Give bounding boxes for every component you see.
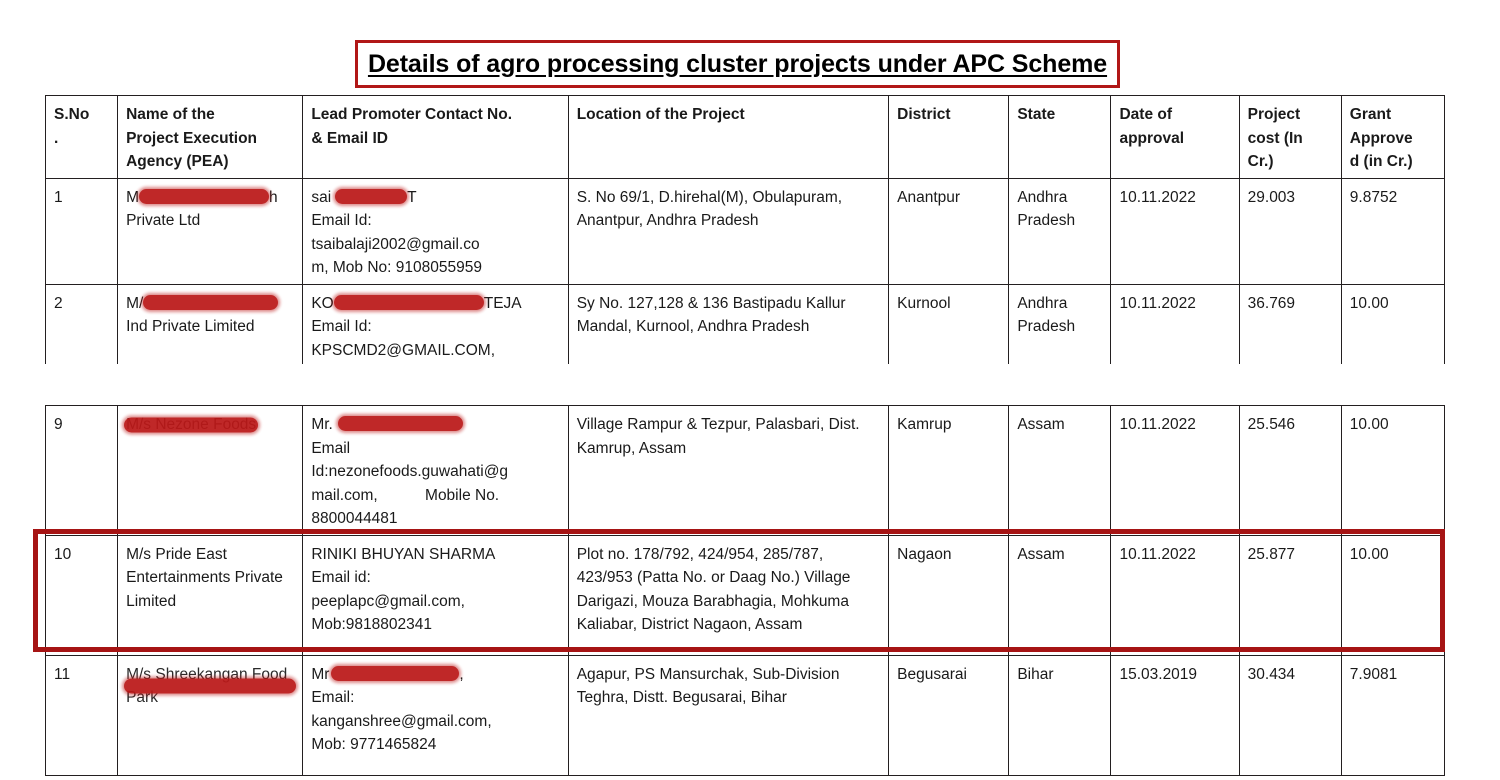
header-line: S.No [54,103,109,127]
lead-line: KPSCMD2@GMAIL.COM, [311,339,559,363]
cell-grant-approved: 10.00 [1341,406,1444,536]
redacted-agency-name: M/s Shreekangan Food Park [126,663,294,710]
cell-location: S. No 69/1, D.hirehal(M), Obulapuram, An… [568,178,888,284]
redacted-agency-name: M/ [126,292,294,316]
redacted-promoter-name: saiT [311,186,559,210]
redacted-promoter-name: KOTEJA [311,292,559,316]
column-header-pea: Name of the Project Execution Agency (PE… [118,96,303,179]
promoter-visible-prefix: Mr [311,666,329,683]
cell-project-cost: 25.877 [1239,535,1341,655]
header-line: State [1017,103,1102,127]
pea-visible-prefix: M/ [126,295,143,312]
cell-lead-promoter: saiT Email Id: tsaibalaji2002@gmail.co m… [303,178,568,284]
header-line: Lead Promoter Contact No. [311,103,559,127]
redacted-promoter-name: Mr. [311,413,559,437]
column-header-grant-approved: Grant Approve d (in Cr.) [1341,96,1444,179]
cell-state: Bihar [1009,655,1111,775]
redacted-agency-name: Mh [126,186,294,210]
cell-project-cost: 30.434 [1239,655,1341,775]
lead-line: mail.com, Mobile No. [311,484,559,508]
column-header-date-of-approval: Date of approval [1111,96,1239,179]
lead-line: Id:nezonefoods.guwahati@g [311,460,559,484]
cell-sno: 9 [46,406,118,536]
table-row-highlighted: 10 M/s Pride East Entertainments Private… [46,535,1445,655]
redaction-mark [334,295,484,310]
header-line: Date of [1119,103,1230,127]
cell-district: Nagaon [889,535,1009,655]
cell-pea: M/s Pride East Entertainments Private Li… [118,535,303,655]
column-header-project-cost: Project cost (In Cr.) [1239,96,1341,179]
cell-location: Agapur, PS Mansurchak, Sub-Division Tegh… [568,655,888,775]
page-break-gap [0,364,1500,406]
redacted-agency-name: M/s Nezone Foods [126,413,256,437]
cell-date: 10.11.2022 [1111,178,1239,284]
cell-district: Anantpur [889,178,1009,284]
header-line: . [54,127,109,151]
promoter-visible-suffix: TEJA [484,295,522,312]
header-line: Location of the Project [577,103,880,127]
redaction-mark [331,666,459,681]
redaction-mark [338,416,463,431]
promoter-name: RINIKI BHUYAN SHARMA [311,543,559,567]
lead-line: Mob:9818802341 [311,613,559,637]
promoter-visible-suffix: , [459,666,463,683]
header-line: Agency (PEA) [126,150,294,174]
header-line: Project [1248,103,1333,127]
column-header-district: District [889,96,1009,179]
header-line: & Email ID [311,127,559,151]
cell-state: Assam [1009,535,1111,655]
lead-line: Email Id: [311,209,559,233]
cell-state: Andhra Pradesh [1009,178,1111,284]
column-header-state: State [1009,96,1111,179]
lead-line: kanganshree@gmail.com, [311,710,559,734]
header-line: d (in Cr.) [1350,150,1436,174]
column-header-lead-promoter: Lead Promoter Contact No. & Email ID [303,96,568,179]
table-header-row: S.No . Name of the Project Execution Age… [46,96,1445,179]
lead-line: peeplapc@gmail.com, [311,590,559,614]
cell-date: 10.11.2022 [1111,535,1239,655]
header-line: cost (In [1248,127,1333,151]
header-line: Name of the [126,103,294,127]
cell-sno: 11 [46,655,118,775]
cell-district: Begusarai [889,655,1009,775]
table-row: 9 M/s Nezone Foods Mr. Email Id:nezonefo… [46,406,1445,536]
promoter-visible-prefix: sai [311,189,331,206]
cell-date: 15.03.2019 [1111,655,1239,775]
lead-line: tsaibalaji2002@gmail.co [311,233,559,257]
cell-project-cost: 29.003 [1239,178,1341,284]
lead-line: 8800044481 [311,507,559,531]
header-line: Cr.) [1248,150,1333,174]
projects-table-part-1: S.No . Name of the Project Execution Age… [45,95,1445,391]
header-line: Approve [1350,127,1436,151]
header-line: approval [1119,127,1230,151]
table-row: 1 Mh Private Ltd saiT Email Id: tsaibala… [46,178,1445,284]
page-title: Details of agro processing cluster proje… [368,50,1107,79]
cell-grant-approved: 7.9081 [1341,655,1444,775]
cell-lead-promoter: RINIKI BHUYAN SHARMA Email id: peeplapc@… [303,535,568,655]
lead-line: Email: [311,686,559,710]
cell-grant-approved: 9.8752 [1341,178,1444,284]
promoter-visible-prefix: KO [311,295,333,312]
column-header-location: Location of the Project [568,96,888,179]
cell-grant-approved: 10.00 [1341,535,1444,655]
lead-line: Email [311,437,559,461]
cell-project-cost: 25.546 [1239,406,1341,536]
pea-visible-suffix: h [269,189,278,206]
cell-lead-promoter: Mr, Email: kanganshree@gmail.com, Mob: 9… [303,655,568,775]
cell-pea: M/s Nezone Foods [118,406,303,536]
redaction-mark [335,189,407,204]
pea-line-2: Ind Private Limited [126,315,294,339]
header-line: Project Execution [126,127,294,151]
header-line: Grant [1350,103,1436,127]
promoter-visible-suffix: T [407,189,416,206]
lead-line: Email Id: [311,315,559,339]
cell-date: 10.11.2022 [1111,406,1239,536]
cell-pea: Mh Private Ltd [118,178,303,284]
cell-pea: M/s Shreekangan Food Park [118,655,303,775]
table-row: 11 M/s Shreekangan Food Park Mr, Email: … [46,655,1445,775]
lead-line: Email id: [311,566,559,590]
pea-line-2: Private Ltd [126,209,294,233]
redacted-promoter-name: Mr, [311,663,559,687]
cell-district: Kamrup [889,406,1009,536]
cell-lead-promoter: Mr. Email Id:nezonefoods.guwahati@g mail… [303,406,568,536]
lead-line: m, Mob No: 9108055959 [311,256,559,280]
lead-line: Mob: 9771465824 [311,733,559,757]
redaction-mark [139,189,269,204]
cell-state: Assam [1009,406,1111,536]
cell-sno: 1 [46,178,118,284]
header-line: District [897,103,1000,127]
column-header-sno: S.No . [46,96,118,179]
cell-sno: 10 [46,535,118,655]
cell-location: Plot no. 178/792, 424/954, 285/787, 423/… [568,535,888,655]
cell-location: Village Rampur & Tezpur, Palasbari, Dist… [568,406,888,536]
redaction-mark [143,295,278,310]
projects-table-part-2: 9 M/s Nezone Foods Mr. Email Id:nezonefo… [45,405,1445,776]
pea-visible-prefix: M [126,189,139,206]
promoter-visible-prefix: Mr. [311,416,333,433]
document-title-box: Details of agro processing cluster proje… [355,40,1120,88]
